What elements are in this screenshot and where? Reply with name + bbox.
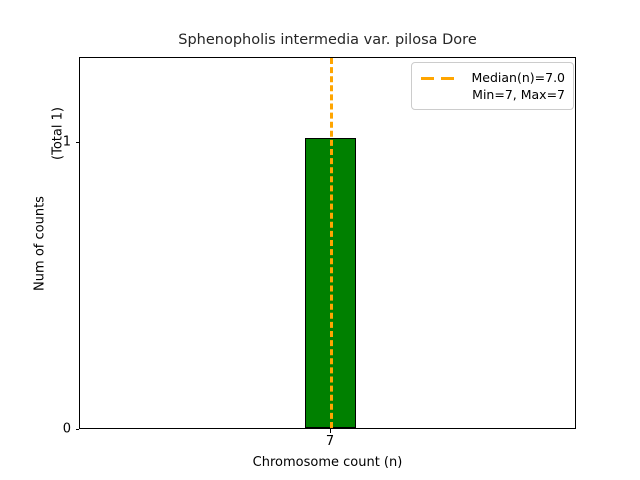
x-axis-label: Chromosome count (n)	[79, 455, 576, 470]
legend-entry-median: Median(n)=7.0	[420, 69, 565, 86]
legend-label-minmax: Min=7, Max=7	[463, 87, 565, 102]
plot-inner	[80, 58, 575, 428]
chart-title: Sphenopholis intermedia var. pilosa Dore	[79, 31, 576, 49]
legend: Median(n)=7.0 Min=7, Max=7	[411, 62, 574, 110]
x-tick-mark-7	[330, 429, 331, 433]
median-line	[330, 58, 333, 428]
y-axis-label-total: (Total 1)	[51, 0, 66, 324]
legend-label-median: Median(n)=7.0	[463, 70, 565, 85]
legend-dashed-line-icon	[420, 72, 456, 84]
y-tick-label-1: 1	[0, 135, 71, 150]
y-tick-label-0: 0	[0, 422, 71, 437]
chart-figure: Sphenopholis intermedia var. pilosa Dore…	[0, 0, 640, 480]
x-tick-label-7: 7	[326, 434, 334, 449]
y-axis-label: Num of counts	[33, 54, 48, 434]
plot-area	[79, 57, 576, 429]
legend-entry-minmax: Min=7, Max=7	[420, 86, 565, 103]
